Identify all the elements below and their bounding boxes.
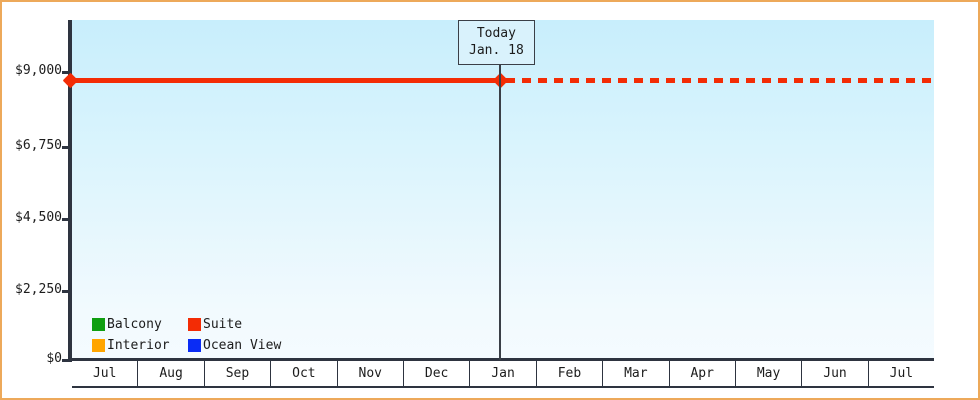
legend-item-ocean-view[interactable]: Ocean View — [188, 339, 281, 352]
y-tick-0 — [62, 359, 72, 362]
today-date: Jan. 18 — [469, 42, 524, 59]
legend-item-balcony[interactable]: Balcony — [92, 318, 188, 331]
legend-item-interior[interactable]: Interior — [92, 339, 188, 352]
series-line-suite-dashed — [506, 78, 934, 83]
y-axis-label-6750: $6,750 — [4, 139, 62, 152]
x-axis-month-0[interactable]: Jul — [72, 361, 138, 386]
y-axis-label-2250-wrap: $2,250 — [2, 283, 62, 297]
x-axis-month-6[interactable]: Jan — [470, 361, 536, 386]
x-axis-month-5[interactable]: Dec — [404, 361, 470, 386]
today-vertical-line — [499, 57, 501, 360]
series-line-suite-solid — [70, 78, 502, 83]
legend-label-ocean-view: Ocean View — [203, 339, 281, 352]
y-axis-label-0: $0 — [4, 352, 62, 365]
chart-frame: $9,000 $6,750 $4,500 $2,250 $0 Today Jan… — [0, 0, 980, 400]
x-axis-month-11[interactable]: Jun — [802, 361, 868, 386]
x-axis-month-2[interactable]: Sep — [205, 361, 271, 386]
x-axis-month-1[interactable]: Aug — [138, 361, 204, 386]
y-axis-label-4500: $4,500 — [4, 211, 62, 224]
y-axis-label-6750-wrap: $6,750 — [2, 139, 62, 153]
legend-swatch-interior-icon — [92, 339, 105, 352]
today-label: Today — [469, 25, 524, 42]
y-tick-2250 — [62, 290, 72, 293]
legend-swatch-ocean-view-icon — [188, 339, 201, 352]
x-axis-month-10[interactable]: May — [736, 361, 802, 386]
x-axis-month-12[interactable]: Jul — [869, 361, 934, 386]
legend-label-balcony: Balcony — [107, 318, 162, 331]
x-axis-month-4[interactable]: Nov — [338, 361, 404, 386]
legend-swatch-suite-icon — [188, 318, 201, 331]
y-axis-label-4500-wrap: $4,500 — [2, 211, 62, 225]
y-tick-4500 — [62, 218, 72, 221]
y-axis-label-9000-wrap: $9,000 — [2, 64, 62, 78]
x-axis-month-9[interactable]: Apr — [670, 361, 736, 386]
x-axis-month-3[interactable]: Oct — [271, 361, 337, 386]
legend: Balcony Suite Interior Ocean View — [92, 314, 281, 356]
x-axis-month-7[interactable]: Feb — [537, 361, 603, 386]
y-axis-label-0-wrap: $0 — [2, 352, 62, 366]
legend-swatch-balcony-icon — [92, 318, 105, 331]
legend-label-interior: Interior — [107, 339, 170, 352]
x-axis-month-row: Jul Aug Sep Oct Nov Dec Jan Feb Mar Apr … — [72, 361, 934, 388]
plot-area — [72, 20, 934, 360]
y-axis-label-9000: $9,000 — [4, 64, 62, 77]
x-axis-month-8[interactable]: Mar — [603, 361, 669, 386]
legend-label-suite: Suite — [203, 318, 242, 331]
y-axis-label-2250: $2,250 — [4, 283, 62, 296]
legend-item-suite[interactable]: Suite — [188, 318, 281, 331]
today-callout-box[interactable]: Today Jan. 18 — [458, 20, 535, 65]
y-tick-6750 — [62, 146, 72, 149]
